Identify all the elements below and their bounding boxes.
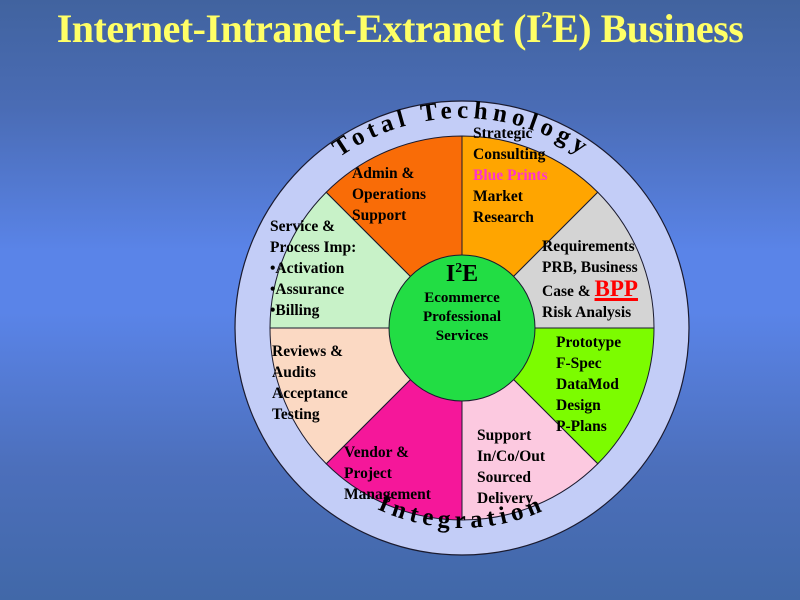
title-prefix: Internet-Intranet-Extranet (I — [57, 6, 541, 51]
slide-canvas: Internet-Intranet-Extranet (I2E) Busines… — [0, 0, 800, 600]
page-title: Internet-Intranet-Extranet (I2E) Busines… — [0, 4, 800, 54]
title-superscript: 2 — [541, 8, 552, 34]
center-hub-circle — [389, 255, 535, 401]
title-suffix: E) Business — [552, 6, 743, 51]
business-wheel-diagram: Total Technology Integration — [234, 100, 690, 556]
